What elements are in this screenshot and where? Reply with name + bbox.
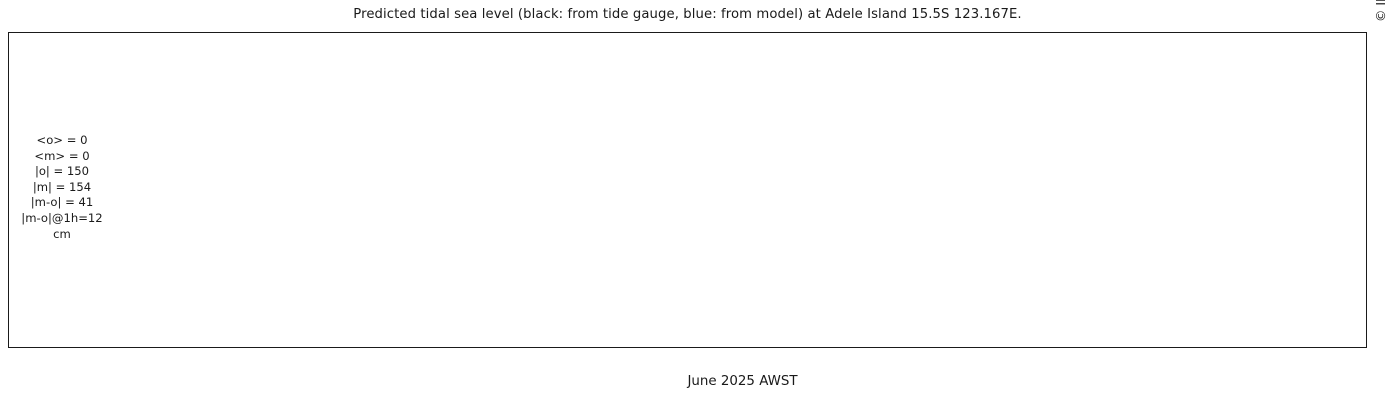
stat-mean-observed: <o> = 0 (8, 133, 116, 149)
stat-absmean-model: |m| = 154 (8, 180, 116, 196)
credit-watermark: © IMOS 05-Jun-2025 23:47:53. *Not for na… (1370, 0, 1392, 22)
stat-absdiff: |m-o| = 41 (8, 195, 116, 211)
stat-mean-model: <m> = 0 (8, 149, 116, 165)
x-axis-title: June 2025 AWST (118, 374, 1367, 389)
plot-area (118, 32, 1367, 348)
tidal-series-plot (118, 32, 1367, 348)
stat-absdiff-1h: |m-o|@1h=12 (8, 211, 116, 227)
tidal-chart-figure: Predicted tidal sea level (black: from t… (0, 0, 1400, 400)
stat-units: cm (8, 227, 116, 243)
stat-absmean-observed: |o| = 150 (8, 164, 116, 180)
page-title: Predicted tidal sea level (black: from t… (0, 7, 1375, 22)
credit-text: © IMOS 05-Jun-2025 23:47:53. *Not for na… (1370, 0, 1392, 22)
statistics-block: <o> = 0 <m> = 0 |o| = 150 |m| = 154 |m-o… (8, 133, 116, 242)
